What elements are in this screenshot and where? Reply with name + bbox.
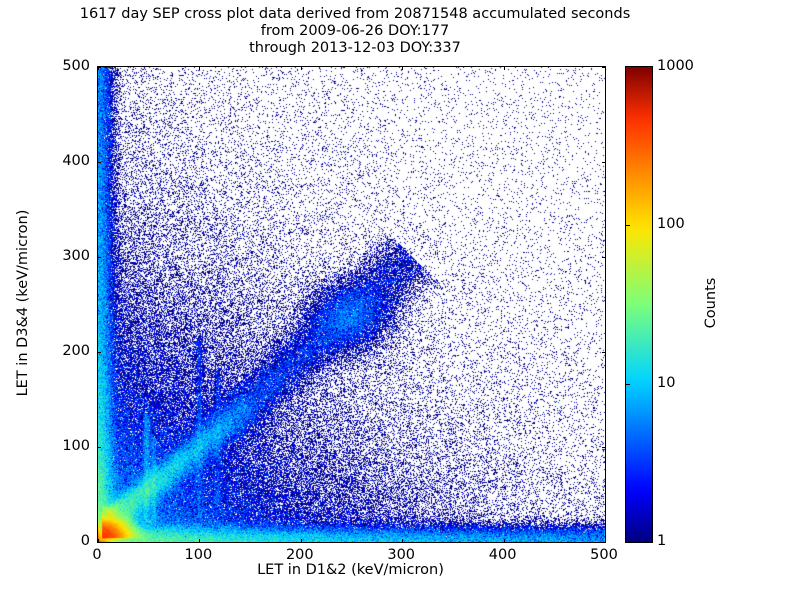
- x-tick-mark: [301, 66, 302, 70]
- plot-title: 1617 day SEP cross plot data derived fro…: [0, 6, 710, 57]
- x-tick-mark: [301, 539, 302, 543]
- colorbar-tick-label: 1: [657, 533, 666, 549]
- colorbar-tick-label: 100: [657, 216, 685, 232]
- y-tick-label: 0: [40, 533, 90, 549]
- y-tick-label: 400: [40, 153, 90, 169]
- x-tick-mark: [199, 66, 200, 70]
- x-tick-label: 500: [590, 547, 618, 563]
- colorbar-tick-mark: [625, 225, 630, 226]
- y-tick-label: 100: [40, 438, 90, 454]
- y-axis-label: LET in D3&4 (keV/micron): [15, 210, 31, 397]
- y-tick-label: 200: [40, 343, 90, 359]
- x-tick-label: 400: [489, 547, 517, 563]
- x-tick-label: 200: [286, 547, 314, 563]
- y-tick-mark: [97, 67, 101, 68]
- y-tick-mark: [602, 352, 606, 353]
- colorbar-label: Counts: [703, 278, 719, 329]
- title-line-3: through 2013-12-03 DOY:337: [0, 40, 710, 57]
- x-tick-label: 0: [92, 547, 101, 563]
- title-line-1: 1617 day SEP cross plot data derived fro…: [0, 6, 710, 23]
- plot-axes-frame: [97, 66, 606, 543]
- x-tick-label: 100: [185, 547, 213, 563]
- y-tick-mark: [602, 447, 606, 448]
- x-tick-label: 300: [387, 547, 415, 563]
- y-tick-mark: [602, 257, 606, 258]
- colorbar-tick-mark: [625, 384, 630, 385]
- x-tick-mark: [199, 539, 200, 543]
- y-tick-label: 300: [40, 248, 90, 264]
- x-tick-mark: [504, 66, 505, 70]
- colorbar: [625, 66, 653, 543]
- y-tick-mark: [97, 542, 101, 543]
- y-tick-mark: [602, 162, 606, 163]
- colorbar-tick-label: 10: [657, 375, 675, 391]
- x-tick-mark: [504, 539, 505, 543]
- x-tick-mark: [402, 539, 403, 543]
- y-tick-mark: [97, 352, 101, 353]
- colorbar-tick-label: 1000: [657, 58, 694, 74]
- y-tick-mark: [97, 447, 101, 448]
- density-scatter-plot: [98, 67, 605, 542]
- y-tick-mark: [97, 162, 101, 163]
- colorbar-gradient: [626, 67, 652, 542]
- x-tick-mark: [402, 66, 403, 70]
- title-line-2: from 2009-06-26 DOY:177: [0, 23, 710, 40]
- figure-canvas: 1617 day SEP cross plot data derived fro…: [0, 0, 800, 600]
- y-tick-mark: [602, 542, 606, 543]
- y-tick-mark: [97, 257, 101, 258]
- y-tick-mark: [602, 67, 606, 68]
- y-tick-label: 500: [40, 58, 90, 74]
- x-axis-label: LET in D1&2 (keV/micron): [97, 562, 604, 578]
